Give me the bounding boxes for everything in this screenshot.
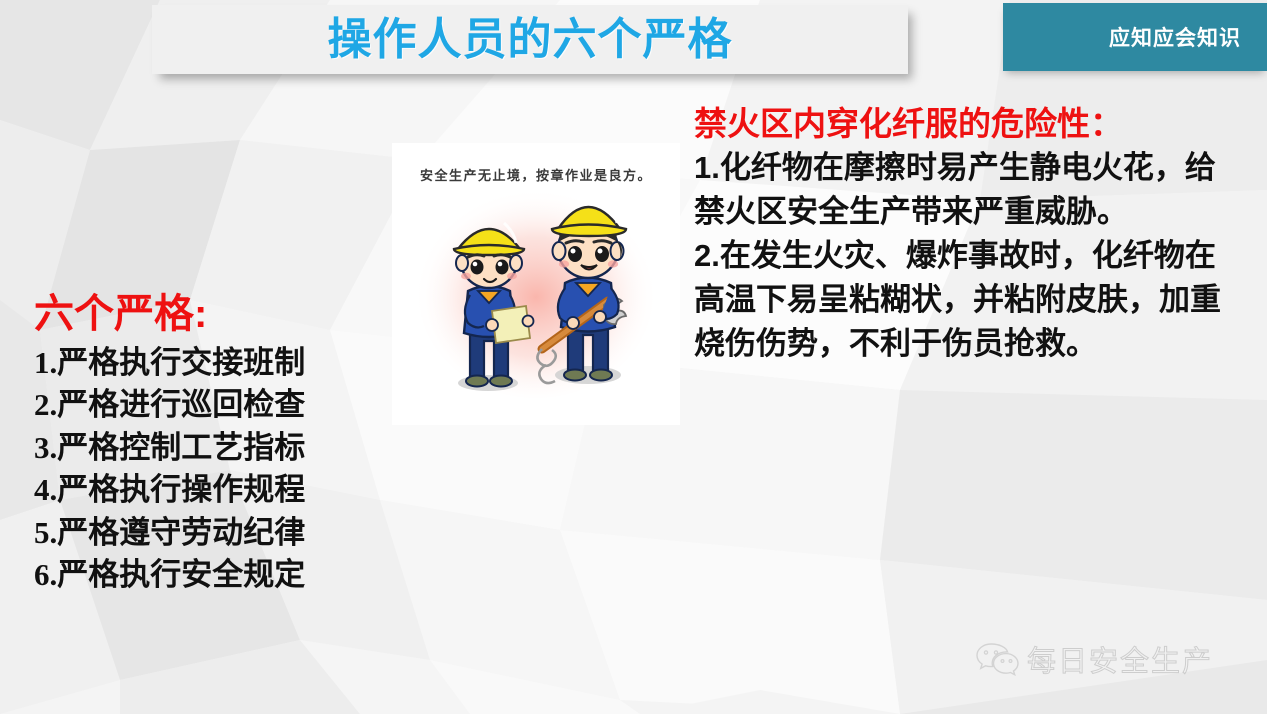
cartoon-workers-illustration	[392, 143, 680, 425]
right-column: 禁火区内穿化纤服的危险性： 1.化纤物在摩擦时易产生静电火花，给禁火区安全生产带…	[694, 104, 1234, 366]
list-item-label: 严格执行操作规程	[57, 472, 305, 507]
right-column-heading: 禁火区内穿化纤服的危险性：	[694, 104, 1234, 144]
corner-banner-label: 应知应会知识	[1109, 22, 1267, 52]
list-item-number: 1.	[34, 345, 57, 380]
list-item-label: 严格控制工艺指标	[57, 430, 305, 465]
slide-title-bar: 操作人员的六个严格	[152, 5, 908, 74]
left-column: 六个严格: 1.严格执行交接班制 2.严格进行巡回检查 3.严格控制工艺指标 4…	[34, 292, 394, 597]
left-column-heading: 六个严格:	[34, 292, 394, 336]
illustration-frame: 安全生产无止境，按章作业是良方。	[392, 143, 680, 425]
list-item: 4.严格执行操作规程	[34, 469, 394, 511]
list-item-number: 4.	[34, 472, 57, 507]
watermark-label: 每日安全生产	[1027, 638, 1213, 680]
list-item: 3.严格控制工艺指标	[34, 427, 394, 469]
slide-canvas: 操作人员的六个严格 应知应会知识 六个严格: 1.严格执行交接班制 2.严格进行…	[0, 0, 1267, 714]
list-item-label: 严格遵守劳动纪律	[57, 515, 305, 550]
list-item-number: 6.	[34, 557, 57, 592]
list-item-label: 严格进行巡回检查	[57, 387, 305, 422]
illustration-caption: 安全生产无止境，按章作业是良方。	[392, 165, 680, 184]
list-item-number: 2.	[34, 387, 57, 422]
corner-banner: 应知应会知识	[1003, 3, 1267, 71]
list-item-number: 5.	[34, 515, 57, 550]
watermark: 每日安全生产	[975, 638, 1213, 680]
list-item-number: 3.	[34, 430, 57, 465]
list-item-label: 严格执行安全规定	[57, 557, 305, 592]
list-item: 2.严格进行巡回检查	[34, 384, 394, 426]
list-item-label: 严格执行交接班制	[57, 345, 305, 380]
right-column-paragraph: 2.在发生火灾、爆炸事故时，化纤物在高温下易呈粘糊状，并粘附皮肤，加重烧伤伤势，…	[694, 234, 1234, 366]
right-column-paragraph: 1.化纤物在摩擦时易产生静电火花，给禁火区安全生产带来严重威胁。	[694, 146, 1234, 234]
list-item: 6.严格执行安全规定	[34, 554, 394, 596]
wechat-icon	[975, 641, 1019, 677]
list-item: 5.严格遵守劳动纪律	[34, 512, 394, 554]
list-item: 1.严格执行交接班制	[34, 342, 394, 384]
page-title: 操作人员的六个严格	[328, 18, 733, 62]
